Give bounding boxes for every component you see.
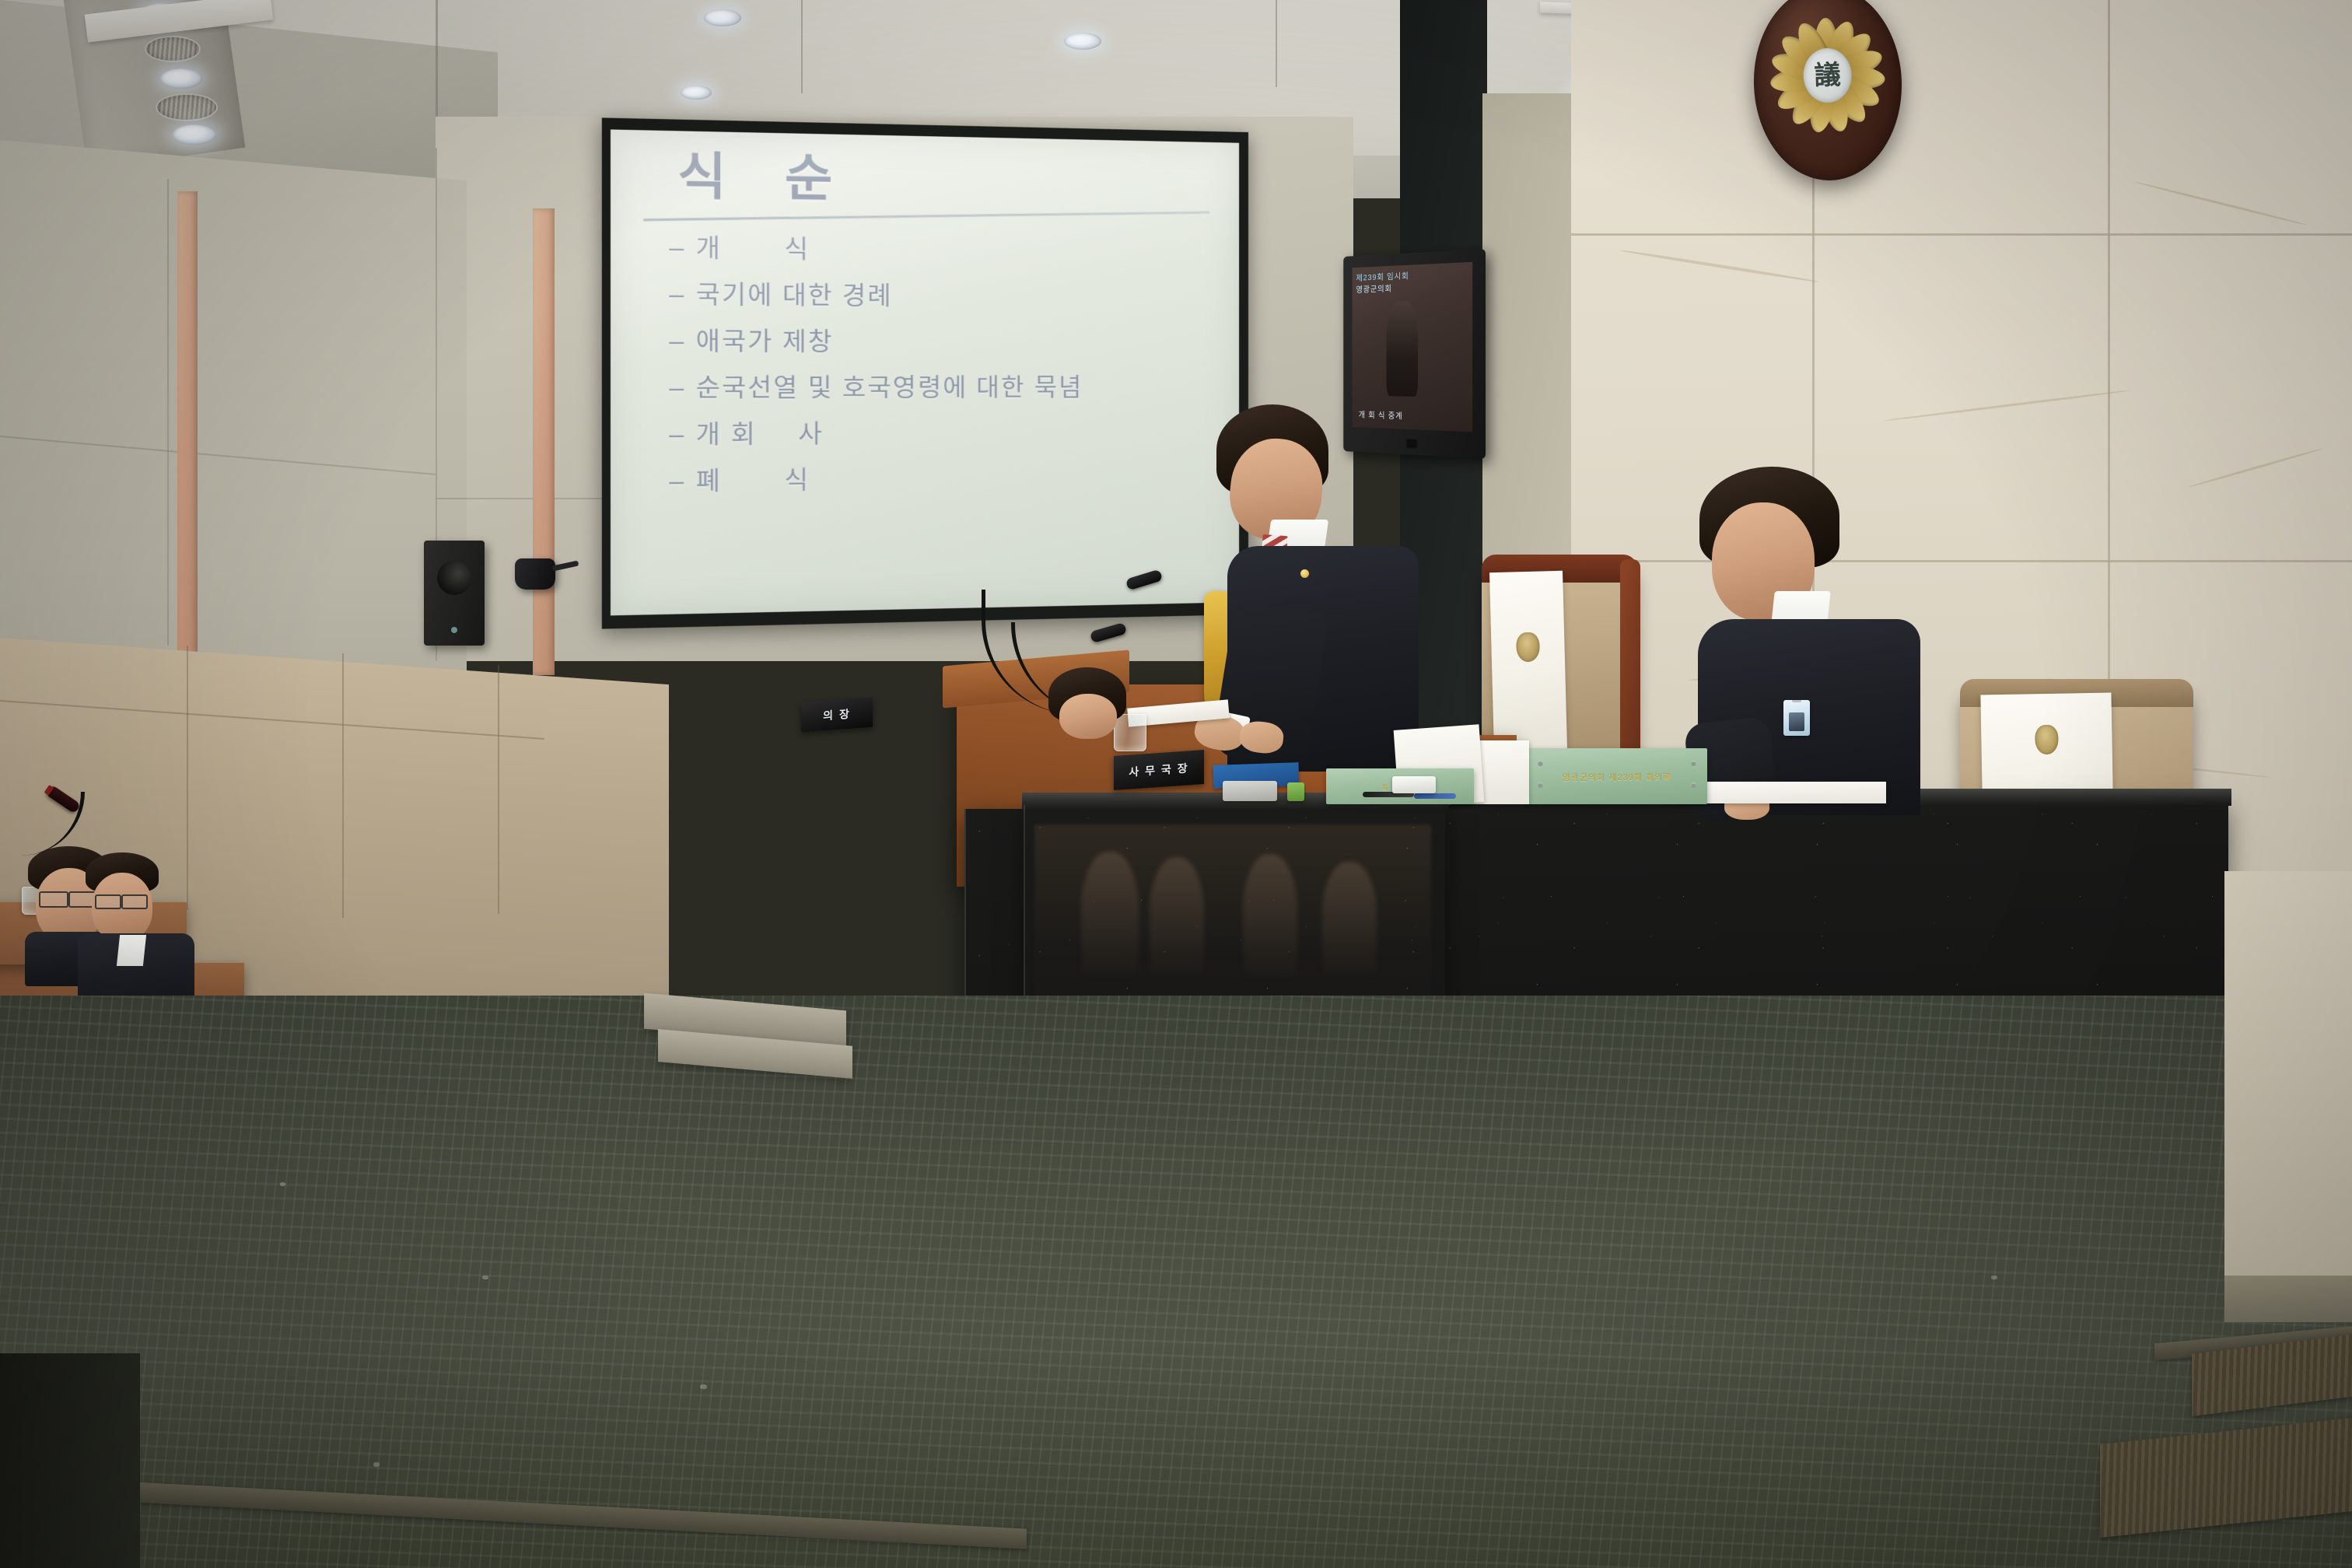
slide-item: –개 식 <box>669 235 1216 266</box>
downlight-icon <box>173 124 216 145</box>
slide-item: –애국가 제창 <box>669 328 1216 355</box>
projection-screen: 식 순 –개 식 –국기에 대한 경례 –애국가 제창 –순국선열 및 호국영령… <box>602 117 1248 628</box>
marker-pen <box>1414 793 1456 799</box>
air-vent-icon <box>145 36 201 62</box>
slide-item-tail: 사 <box>798 419 824 448</box>
nameplate-text: 의 장 <box>823 706 851 723</box>
reflected-attendee <box>1322 862 1377 975</box>
chrysanthemum-icon: 議 <box>1766 14 1888 136</box>
reflected-attendee <box>1243 854 1297 977</box>
chamber-floor-carpet <box>0 996 2352 1568</box>
slide-item-dash: – <box>669 467 685 495</box>
assistant-person <box>1042 667 1136 745</box>
carpet-fleck <box>280 1182 285 1186</box>
desk-nameplate-podium: 의 장 <box>801 698 873 732</box>
binder-rivet <box>1691 761 1696 766</box>
badge-clip-icon <box>1792 700 1801 702</box>
desk-nameplate-main: 사 무 국 장 <box>1114 750 1204 790</box>
carpet-fleck <box>373 1462 380 1467</box>
binder-rivet <box>1538 782 1543 788</box>
gallery-person-back <box>78 852 194 1008</box>
wall-pillar <box>533 208 555 675</box>
binder-rivet <box>1538 761 1543 766</box>
speaker-led-icon <box>451 627 457 633</box>
carpet-fleck <box>482 1276 488 1279</box>
marble-skirting <box>2224 1276 2352 1322</box>
eyeglasses-icon <box>39 891 68 908</box>
pa-speaker <box>424 541 485 646</box>
green-marker <box>1287 782 1304 801</box>
slide-item-label: 개 <box>696 233 722 262</box>
marble-vein <box>2188 447 2323 488</box>
antimacassar-crest-icon <box>2035 725 2059 755</box>
badge-photo-icon <box>1789 712 1804 731</box>
gallery-collar <box>117 935 146 966</box>
wood-seam <box>498 665 499 914</box>
reflected-attendee <box>1081 852 1139 976</box>
carpet-fleck <box>700 1384 707 1389</box>
slide-item-label: 폐 <box>696 467 722 495</box>
binder-rivet <box>1691 782 1696 788</box>
marble-vein <box>1883 390 2130 422</box>
slide-item-label: 개 회 <box>696 420 757 449</box>
chair-antimacassar <box>1489 571 1567 751</box>
carpet-fleck <box>1991 1276 1997 1279</box>
slide-item-label: 애국가 제창 <box>696 327 834 355</box>
monitor-caption-top: 제239회 임시회 <box>1356 269 1409 283</box>
slide-item-dash: – <box>669 420 685 449</box>
downlight-icon <box>160 68 202 89</box>
floor-corner-shadow <box>0 1353 140 1568</box>
marble-baseboard <box>2224 871 2352 1291</box>
marble-joint <box>1571 233 2352 236</box>
slide-item-tail: 식 <box>784 466 810 495</box>
security-camera-icon <box>515 558 555 590</box>
slide-title: 식 순 <box>636 152 1216 212</box>
slide-item-label: 국기에 대한 경례 <box>696 280 893 310</box>
ceiling-seam <box>801 0 803 93</box>
white-device <box>1392 776 1436 793</box>
slide-item-dash: – <box>669 327 685 355</box>
ceiling-seam <box>1276 0 1277 87</box>
downlight-icon <box>704 9 741 26</box>
slide-item: –국기에 대한 경례 <box>669 282 1216 310</box>
slide-item: –순국선열 및 호국영령에 대한 묵념 <box>669 375 1216 401</box>
speaker-cone-icon <box>437 561 471 595</box>
slide-item-dash: – <box>669 233 685 262</box>
slide-divider <box>643 212 1209 222</box>
slide-item-tail: 식 <box>784 235 810 264</box>
eyeglasses-icon <box>95 894 121 909</box>
slide-item-list: –개 식 –국기에 대한 경례 –애국가 제창 –순국선열 및 호국영령에 대한… <box>636 234 1216 494</box>
air-vent-icon <box>156 93 218 121</box>
monitor-live-figure <box>1387 301 1418 397</box>
wall-seam <box>167 179 169 646</box>
assistant-head <box>1059 694 1117 739</box>
lapel-pin-icon <box>1300 569 1309 578</box>
nameplate-text: 사 무 국 장 <box>1129 760 1188 779</box>
binder-label: 영광군의회 제239회 회의록 <box>1563 771 1672 783</box>
slide-item: –폐 식 <box>669 464 1216 494</box>
slide-item-label: 순국선열 및 호국영령에 대한 묵념 <box>696 373 1083 402</box>
council-chamber-photo: 議 식 순 –개 식 –국기에 대한 경례 –애국가 제창 <box>0 0 2352 1568</box>
slide-item-dash: – <box>669 373 685 402</box>
document-stack <box>1676 782 1886 803</box>
eyeglasses-icon <box>121 894 148 909</box>
emblem-character: 議 <box>1814 61 1841 89</box>
projection-screen-surface: 식 순 –개 식 –국기에 대한 경례 –애국가 제창 –순국선열 및 호국영령… <box>611 129 1239 615</box>
id-badge <box>1783 700 1810 736</box>
marble-vein <box>1619 249 1818 284</box>
slide-item-dash: – <box>669 280 685 309</box>
antimacassar-crest-icon <box>1516 632 1540 663</box>
chair-side-rail <box>1620 559 1640 761</box>
monitor-caption-sub: 영광군의회 <box>1356 282 1391 296</box>
slide-content: 식 순 –개 식 –국기에 대한 경례 –애국가 제창 –순국선열 및 호국영령… <box>611 129 1239 615</box>
seated-official <box>1684 467 1948 809</box>
slide-item: –개 회 사 <box>669 419 1216 447</box>
downlight-icon <box>681 86 712 100</box>
reflected-attendee <box>1150 857 1204 975</box>
wall-pillar <box>177 191 198 658</box>
downlight-icon <box>1064 33 1101 50</box>
desk-device <box>1223 781 1277 801</box>
session-binder: 영광군의회 제239회 회의록 <box>1527 748 1707 804</box>
wood-seam <box>342 653 344 918</box>
marble-vein <box>2133 180 2308 226</box>
